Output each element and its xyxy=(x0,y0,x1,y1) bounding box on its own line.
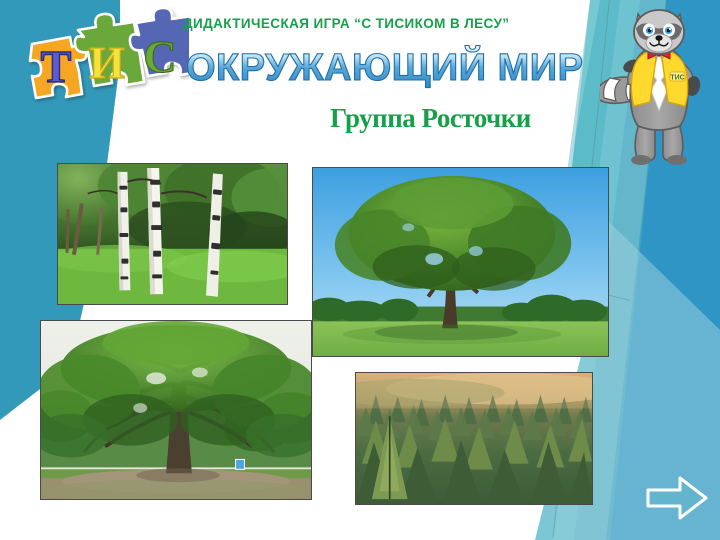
park-sign xyxy=(236,459,245,469)
photo-birch-grove[interactable] xyxy=(57,163,288,305)
photo-spreading-oak[interactable] xyxy=(40,320,312,500)
logo-letter-2: И xyxy=(89,37,125,88)
group-name-label: Группа Росточки xyxy=(330,103,630,134)
photo-conifer-forest[interactable] xyxy=(355,372,593,505)
next-slide-button[interactable] xyxy=(646,474,708,522)
page-title-text: ОКРУЖАЮЩИЙ МИР xyxy=(186,44,583,89)
arrow-right-icon xyxy=(648,478,706,518)
photo-solitary-oak[interactable] xyxy=(312,167,609,357)
mascot-foot-left xyxy=(631,155,651,165)
mascot-vest-badge: ТИС xyxy=(670,72,685,82)
page-title: ОКРУЖАЮЩИЙ МИР xyxy=(186,44,606,90)
mascot-head xyxy=(634,10,684,54)
logo-letter-1: Т xyxy=(41,41,72,92)
svg-text:ТИС: ТИС xyxy=(670,75,684,82)
mascot-foot-right xyxy=(667,155,687,165)
slide-canvas: Т И С ДИДАКТИЧЕСКАЯ ИГРА “С ТИСИКОМ В ЛЕ… xyxy=(0,0,720,540)
logo-letter-3: С xyxy=(143,31,176,82)
lesson-subtitle: ДИДАКТИЧЕСКАЯ ИГРА “С ТИСИКОМ В ЛЕСУ” xyxy=(183,16,603,31)
mascot-raccoon: ТИС xyxy=(600,2,718,167)
tis-puzzle-logo: Т И С xyxy=(14,6,189,111)
